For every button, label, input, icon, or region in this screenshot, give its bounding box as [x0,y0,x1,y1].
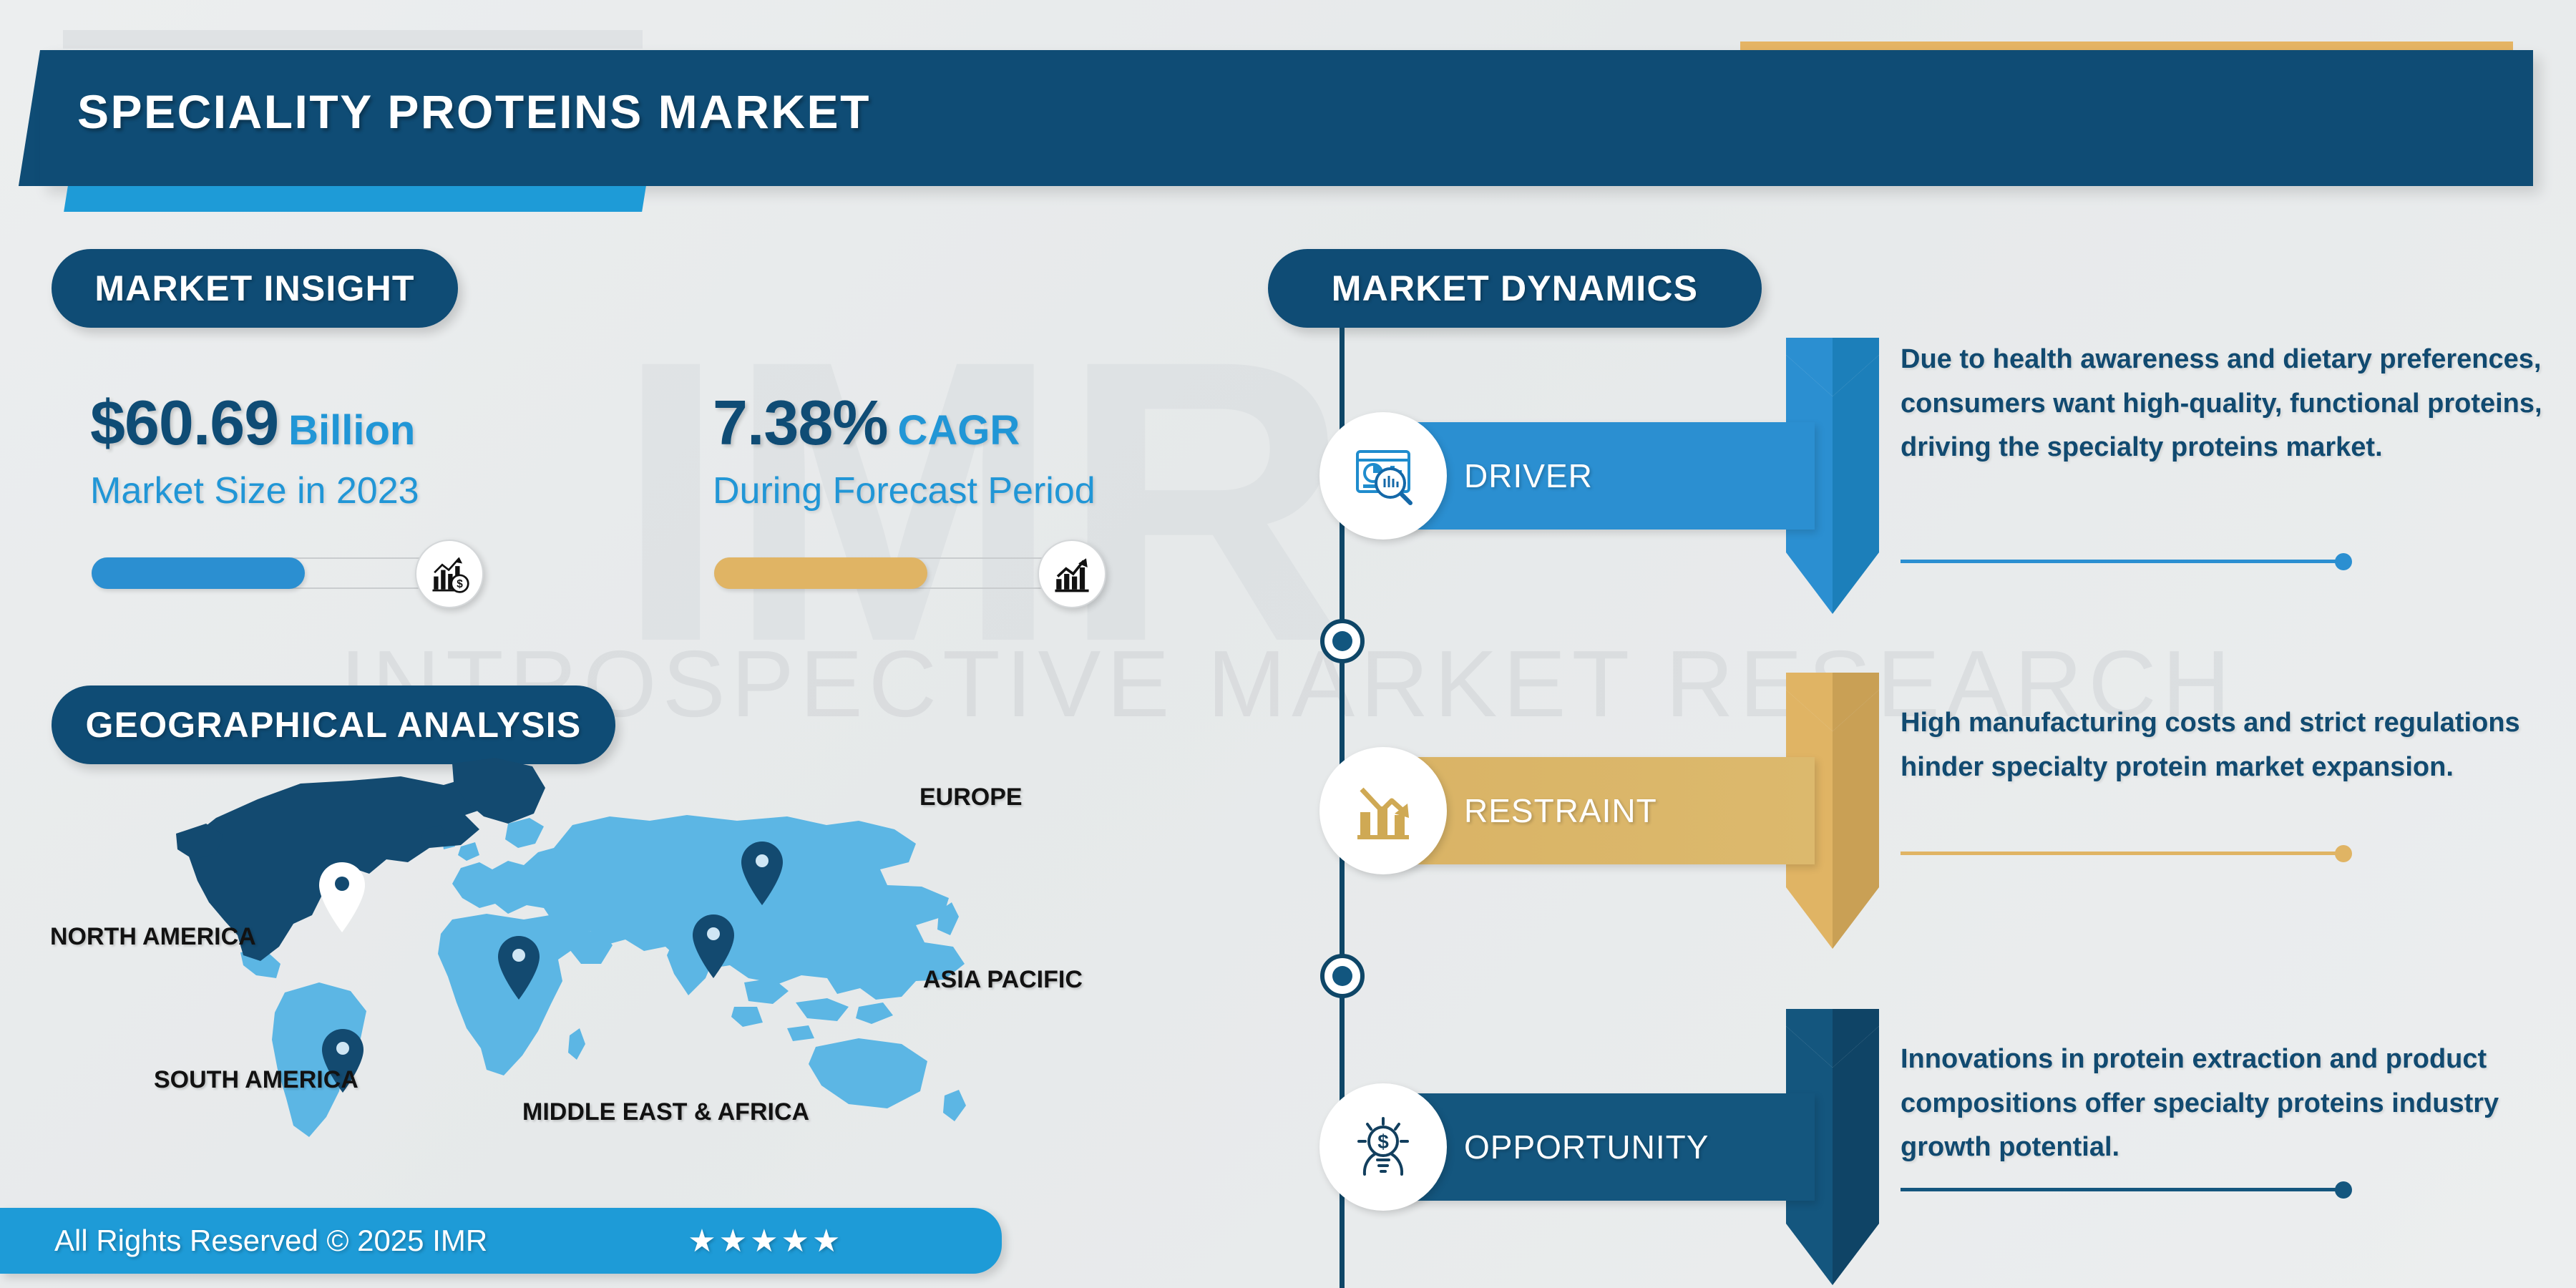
header-underline-accent [64,186,646,212]
badge-market-insight: MARKET INSIGHT [52,249,458,328]
rating-stars: ★★★★★ [688,1223,843,1259]
growth-arrow-chart-icon [1038,540,1106,608]
infographic-canvas: IMR INTROSPECTIVE MARKET RESEARCH SPECIA… [0,0,2576,1288]
stat-cagr-unit: CAGR [898,406,1020,454]
progress-fill [92,557,305,589]
dynamics-bar-opportunity: $ OPPORT [1357,1093,1815,1201]
bar-chart-dollar-icon: $ [415,540,484,608]
dynamics-underline-driver [1901,560,2344,563]
declining-bar-chart-icon [1319,747,1447,874]
stat-market-size: $60.69Billion Market Size in 2023 [90,386,648,512]
page-title: SPECIALITY PROTEINS MARKET [77,84,871,139]
badge-market-dynamics: MARKET DYNAMICS [1268,249,1762,328]
dynamics-text-restraint: High manufacturing costs and strict regu… [1901,701,2545,789]
footer-copyright: All Rights Reserved © 2025 IMR [54,1224,487,1258]
region-label-asia-pacific: ASIA PACIFIC [923,966,1083,994]
dynamics-text-opportunity: Innovations in protein extraction and pr… [1901,1038,2545,1170]
dynamics-item-restraint: RESTRAINT High manufacturing costs and s… [1299,757,2559,864]
dynamics-label-opportunity: OPPORTUNITY [1464,1128,1709,1166]
map-pin-north-america [319,862,365,932]
dynamics-label-driver: DRIVER [1464,457,1593,495]
progress-market-size: $ [92,552,435,594]
svg-text:$: $ [1377,1131,1389,1153]
lightbulb-dollar-icon: $ [1319,1083,1447,1211]
progress-fill [714,557,927,589]
timeline-node-2 [1320,954,1365,998]
dynamics-item-opportunity: $ OPPORT [1299,1093,2559,1201]
dynamics-underline-opportunity [1901,1188,2344,1191]
dynamics-bar-driver: DRIVER [1357,422,1815,530]
dashboard-magnifier-icon [1319,412,1447,540]
stat-market-size-label: Market Size in 2023 [90,469,648,512]
footer-bar: All Rights Reserved © 2025 IMR ★★★★★ [0,1208,1002,1274]
region-label-north-america: NORTH AMERICA [50,923,256,951]
dynamics-label-restraint: RESTRAINT [1464,791,1657,830]
header-ghost-strip [63,30,643,49]
region-label-europe: EUROPE [919,784,1023,811]
region-label-south-america: SOUTH AMERICA [154,1066,358,1094]
stat-cagr-label: During Forecast Period [713,469,1271,512]
dynamics-underline-restraint [1901,852,2344,855]
dynamics-item-driver: DRIVER Due to health awareness and dieta… [1299,422,2559,530]
stat-market-size-unit: Billion [288,406,415,454]
stat-cagr-value: 7.38% [713,386,888,459]
dynamics-text-driver: Due to health awareness and dietary pref… [1901,338,2545,470]
badge-geographical-analysis: GEOGRAPHICAL ANALYSIS [52,686,615,764]
progress-cagr [714,552,1058,594]
dynamics-bar-restraint: RESTRAINT [1357,757,1815,864]
stat-cagr: 7.38%CAGR During Forecast Period [713,386,1271,512]
svg-text:$: $ [457,578,463,590]
stat-market-size-value: $60.69 [90,386,278,459]
timeline-node-1 [1320,619,1365,663]
region-label-middle-east-africa: MIDDLE EAST & AFRICA [522,1098,809,1126]
